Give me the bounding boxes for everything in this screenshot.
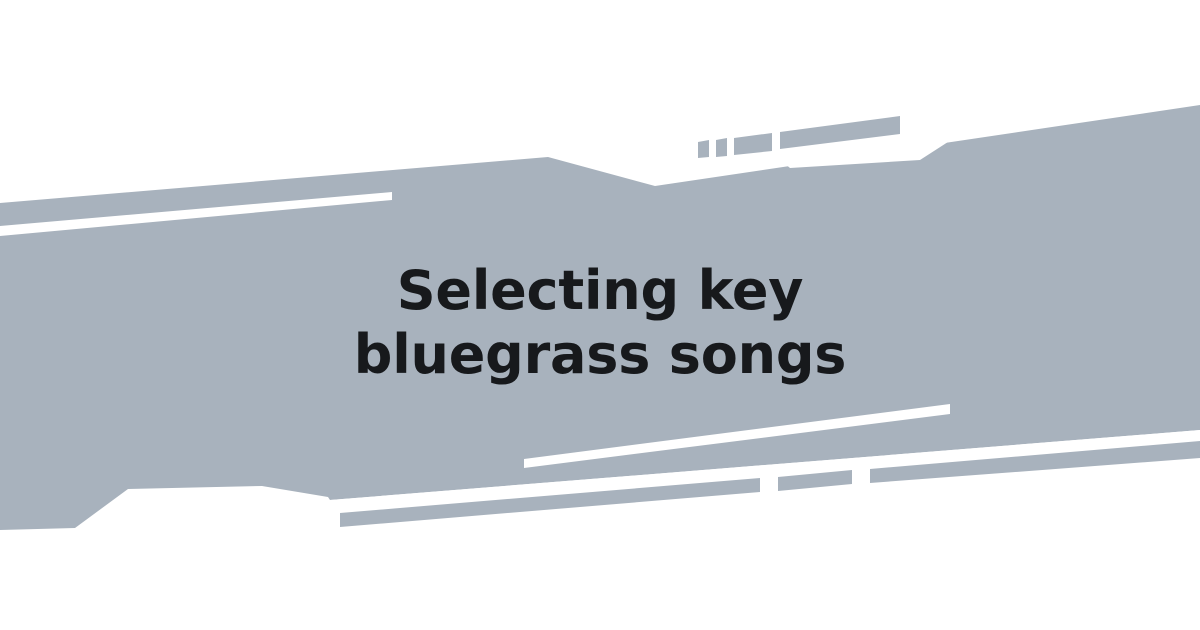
banner-card: Selecting key bluegrass songs [0, 0, 1200, 630]
top-dash-square-1 [698, 140, 709, 158]
top-dash-square-2 [716, 138, 727, 157]
background-decoration [0, 0, 1200, 630]
